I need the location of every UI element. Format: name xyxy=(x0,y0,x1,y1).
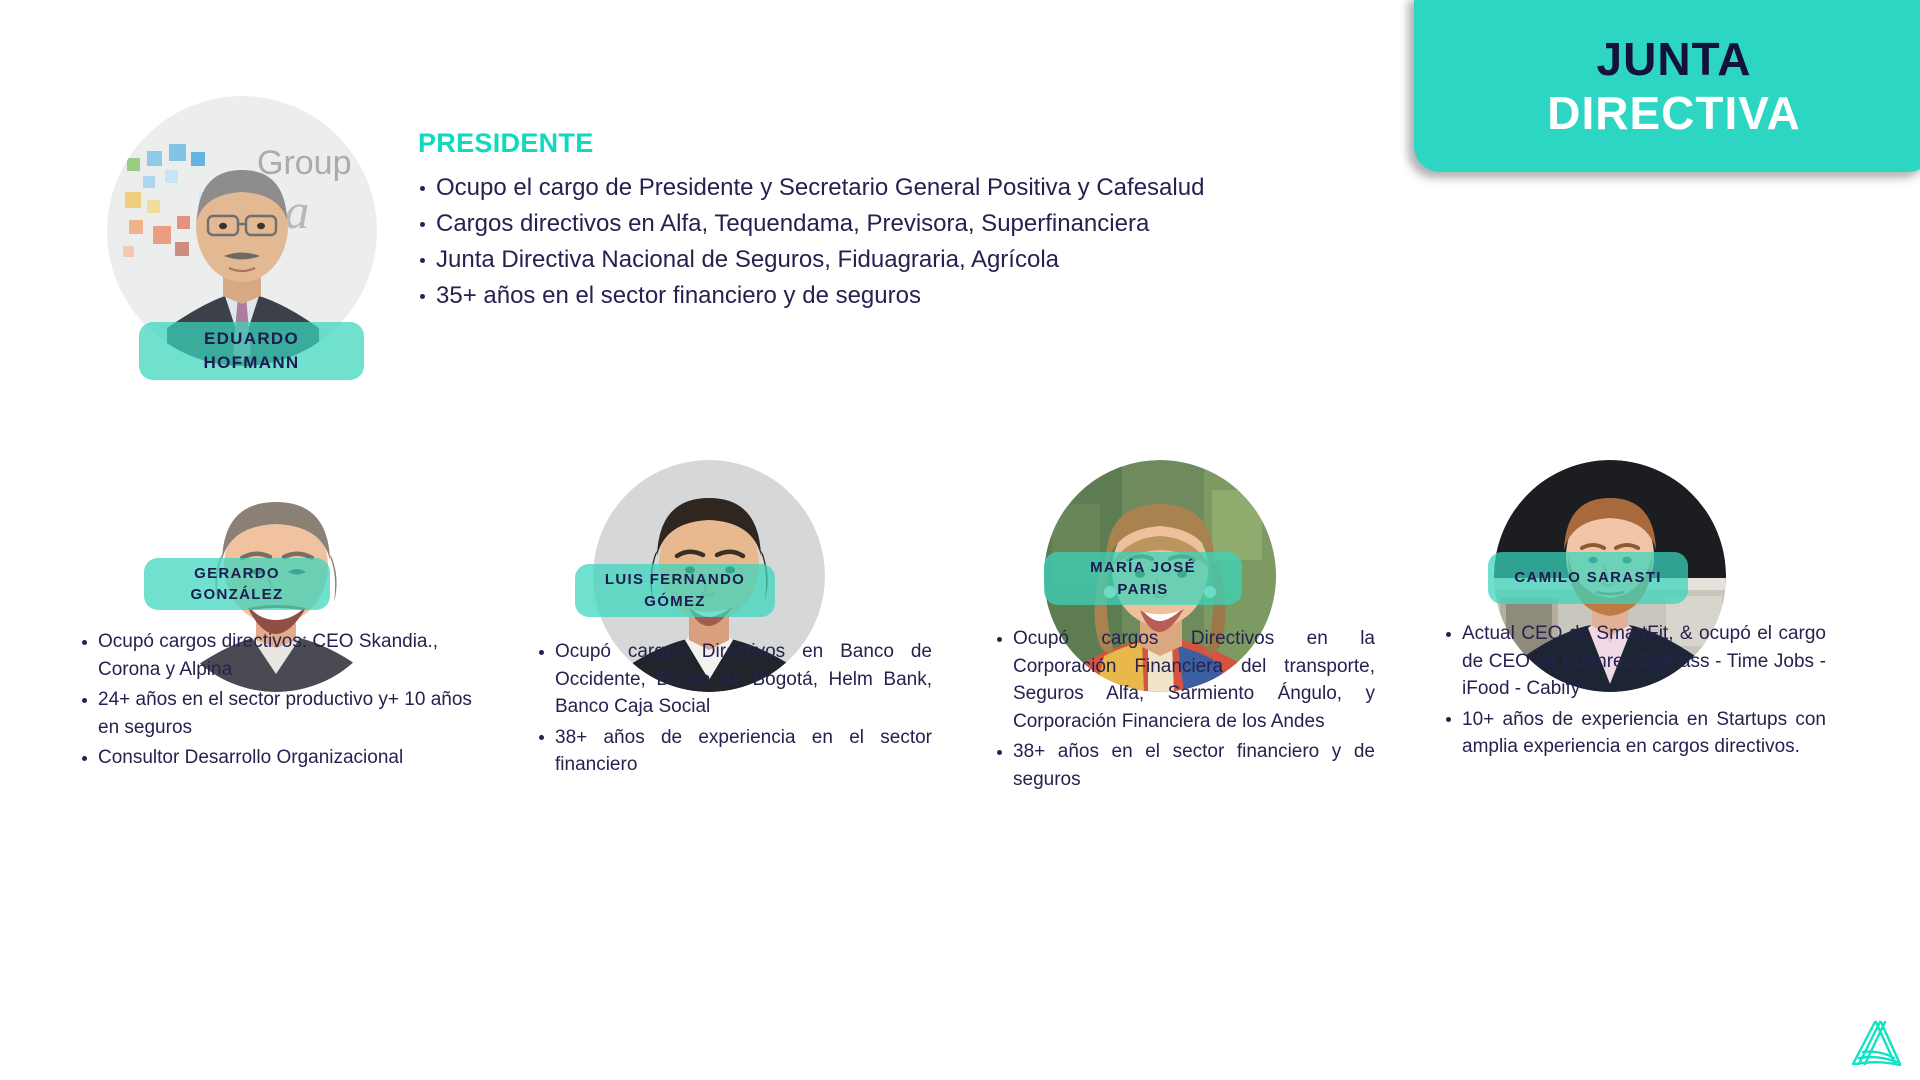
president-role-title: PRESIDENTE xyxy=(418,128,1318,159)
list-item: Ocupo el cargo de Presidente y Secretari… xyxy=(418,171,1318,205)
list-item: 38+ años en el sector financiero y de se… xyxy=(995,738,1375,793)
member-name-line1: MARÍA JOSÉ xyxy=(1090,557,1196,578)
member-name-line2: PARIS xyxy=(1117,579,1168,600)
member-name-badge: CAMILO SARASTI xyxy=(1488,552,1688,604)
member-name-line1: GERARDO xyxy=(194,563,280,584)
list-item: 35+ años en el sector financiero y de se… xyxy=(418,279,1318,313)
header-title-line2: DIRECTIVA xyxy=(1547,86,1801,140)
member-name-badge: GERARDO GONZÁLEZ xyxy=(144,558,330,610)
list-item: Consultor Desarrollo Organizacional xyxy=(80,744,475,772)
member-bullet-list: Actual CEO de SmartFit, & ocupó el cargo… xyxy=(1444,620,1826,761)
member-bullet-list: Ocupó cargos Directivos en la Corporació… xyxy=(995,625,1375,793)
logo-triangle-icon xyxy=(1845,1018,1903,1068)
list-item: 38+ años de experiencia en el sector fin… xyxy=(537,724,932,779)
member-name-badge: LUIS FERNANDO GÓMEZ xyxy=(575,564,775,617)
member-bio: Actual CEO de SmartFit, & ocupó el cargo… xyxy=(1444,620,1826,764)
header-title-line1: JUNTA xyxy=(1597,32,1752,86)
member-name-line2: GONZÁLEZ xyxy=(191,584,284,605)
president-bullet-list: Ocupo el cargo de Presidente y Secretari… xyxy=(418,171,1318,313)
list-item: Actual CEO de SmartFit, & ocupó el cargo… xyxy=(1444,620,1826,703)
member-name-line1: LUIS FERNANDO xyxy=(605,569,745,590)
list-item: 10+ años de experiencia en Startups con … xyxy=(1444,706,1826,761)
member-bullet-list: Ocupó cargos directivos: CEO Skandia., C… xyxy=(80,628,475,772)
member-name-line2: GÓMEZ xyxy=(644,591,706,612)
list-item: Ocupó cargos Directivos en Banco de Occi… xyxy=(537,638,932,721)
list-item: Ocupó cargos Directivos en la Corporació… xyxy=(995,625,1375,735)
list-item: Junta Directiva Nacional de Seguros, Fid… xyxy=(418,243,1318,277)
president-name-badge: EDUARDO HOFMANN xyxy=(139,322,364,380)
member-name-badge: MARÍA JOSÉ PARIS xyxy=(1044,552,1242,605)
president-name-line2: HOFMANN xyxy=(204,351,300,375)
junta-directiva-header-banner: JUNTA DIRECTIVA xyxy=(1414,0,1920,172)
brand-logo-icon xyxy=(1845,1018,1903,1068)
member-bio: Ocupó cargos Directivos en la Corporació… xyxy=(995,625,1375,796)
list-item: Cargos directivos en Alfa, Tequendama, P… xyxy=(418,207,1318,241)
svg-text:Group: Group xyxy=(257,144,352,182)
list-item: 24+ años en el sector productivo y+ 10 a… xyxy=(80,686,475,741)
member-bio: Ocupó cargos directivos: CEO Skandia., C… xyxy=(80,628,475,775)
member-bullet-list: Ocupó cargos Directivos en Banco de Occi… xyxy=(537,638,932,779)
list-item: Ocupó cargos directivos: CEO Skandia., C… xyxy=(80,628,475,683)
member-name-line1: CAMILO SARASTI xyxy=(1514,567,1661,588)
member-bio: Ocupó cargos Directivos en Banco de Occi… xyxy=(537,638,932,782)
president-name-line1: EDUARDO xyxy=(204,327,299,351)
president-info-block: PRESIDENTE Ocupo el cargo de Presidente … xyxy=(418,128,1318,315)
